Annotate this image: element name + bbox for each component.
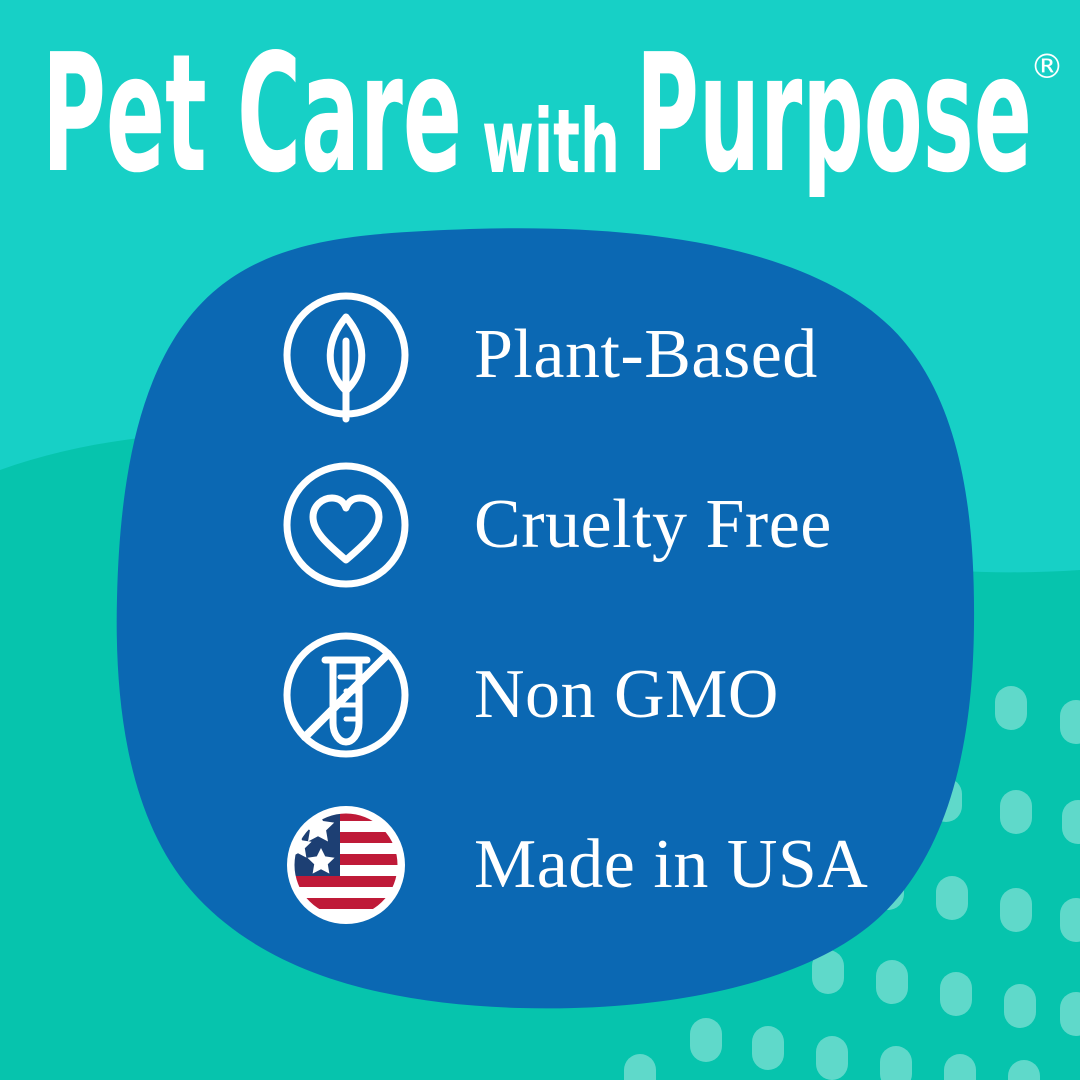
feature-row-cruelty-free: Cruelty Free (278, 456, 938, 594)
leaf-in-circle-icon (278, 287, 414, 423)
promo-poster: Pet Care with Purpose ® Plant-Based Crue… (0, 0, 1080, 1080)
no-test-tube-icon (278, 627, 414, 763)
feature-row-plant-based: Plant-Based (278, 286, 938, 424)
heart-in-circle-icon (278, 457, 414, 593)
feature-label-made-in-usa: Made in USA (474, 830, 868, 900)
feature-row-made-in-usa: Made in USA (278, 796, 938, 934)
headline-part-with: with (482, 90, 620, 193)
feature-row-non-gmo: Non GMO (278, 626, 938, 764)
headline-block: Pet Care with Purpose ® (0, 22, 1080, 197)
headline-part-pet-care: Pet Care (42, 22, 462, 197)
headline-part-purpose: Purpose (636, 22, 1032, 197)
feature-label-non-gmo: Non GMO (474, 660, 779, 730)
feature-list: Plant-Based Cruelty Free (278, 286, 938, 934)
feature-label-cruelty-free: Cruelty Free (474, 490, 832, 560)
registered-trademark-icon: ® (1030, 47, 1064, 87)
usa-flag-circle-icon (278, 797, 414, 933)
feature-label-plant-based: Plant-Based (474, 320, 818, 390)
